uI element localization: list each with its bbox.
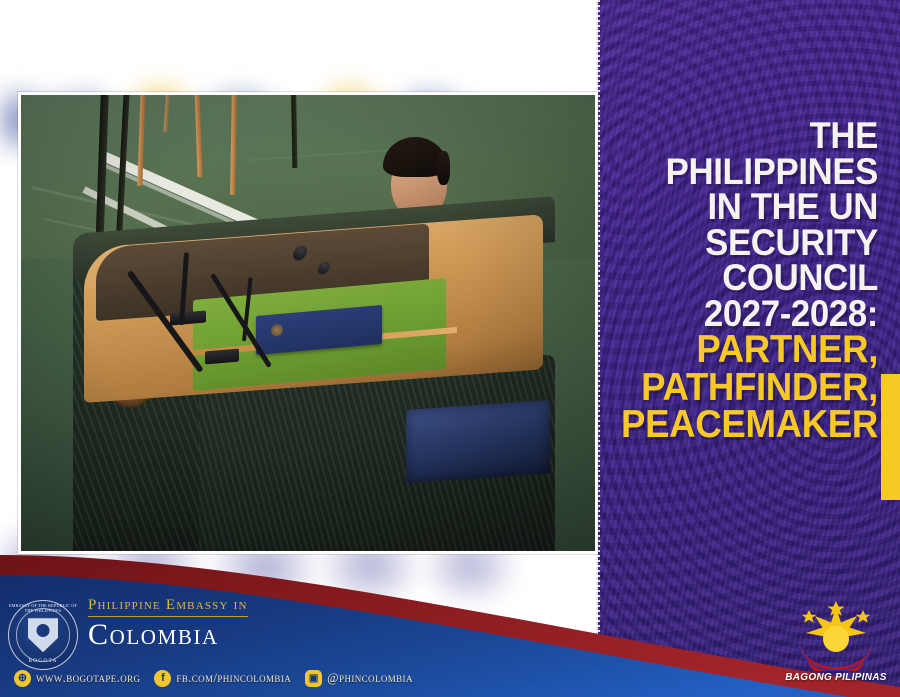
headline-line-2: PHILIPPINES bbox=[605, 154, 878, 190]
photo-content bbox=[21, 95, 595, 551]
bagong-pilipinas-logo: BAGONG PILIPINAS bbox=[784, 597, 888, 683]
globe-icon: ⊕ bbox=[14, 670, 31, 687]
embassy-name-block: Philippine Embassy in Colombia bbox=[88, 596, 248, 651]
seal-top-text: EMBASSY OF THE REPUBLIC OF THE PHILIPPIN… bbox=[8, 603, 78, 613]
headline-line-8: PATHFINDER, bbox=[605, 369, 878, 406]
embassy-country: Colombia bbox=[88, 619, 248, 651]
poster-canvas: THE PHILIPPINES IN THE UN SECURITY COUNC… bbox=[0, 0, 900, 697]
yellow-accent-bar bbox=[881, 374, 900, 500]
embassy-prefix: Philippine Embassy in bbox=[88, 597, 248, 617]
facebook-icon: f bbox=[154, 670, 171, 687]
facebook-handle: fb.com/phincolombia bbox=[176, 671, 291, 686]
seal-bottom-text: BOGOTA bbox=[8, 658, 78, 664]
embassy-seal-icon: EMBASSY OF THE REPUBLIC OF THE PHILIPPIN… bbox=[8, 600, 78, 670]
headline-line-9: PEACEMAKER bbox=[605, 406, 878, 443]
website-url: www.bogotape.org bbox=[36, 671, 140, 686]
headline-block: THE PHILIPPINES IN THE UN SECURITY COUNC… bbox=[588, 118, 878, 443]
rostrum-blue-chair bbox=[406, 400, 550, 483]
instagram-icon: ▣ bbox=[305, 670, 322, 687]
headline-line-1: THE bbox=[605, 118, 878, 154]
bottom-banner: EMBASSY OF THE REPUBLIC OF THE PHILIPPIN… bbox=[0, 537, 900, 697]
headline-line-5: COUNCIL bbox=[605, 260, 878, 296]
social-links-row: ⊕ www.bogotape.org f fb.com/phincolombia… bbox=[14, 670, 420, 687]
social-link-website[interactable]: ⊕ www.bogotape.org bbox=[14, 670, 140, 687]
social-link-facebook[interactable]: f fb.com/phincolombia bbox=[154, 670, 291, 687]
instagram-handle: @phincolombia bbox=[327, 671, 413, 686]
feature-photo bbox=[18, 92, 598, 554]
headline-line-4: SECURITY bbox=[605, 225, 878, 261]
social-link-instagram[interactable]: ▣ @phincolombia bbox=[305, 670, 413, 687]
rail-post bbox=[291, 92, 297, 168]
headline-line-6: 2027-2028: bbox=[605, 296, 878, 332]
speaker-hair bbox=[383, 137, 447, 177]
bagong-pilipinas-label: BAGONG PILIPINAS bbox=[784, 672, 888, 683]
headline-line-7: PARTNER, bbox=[605, 331, 878, 368]
headline-line-3: IN THE UN bbox=[605, 189, 878, 225]
